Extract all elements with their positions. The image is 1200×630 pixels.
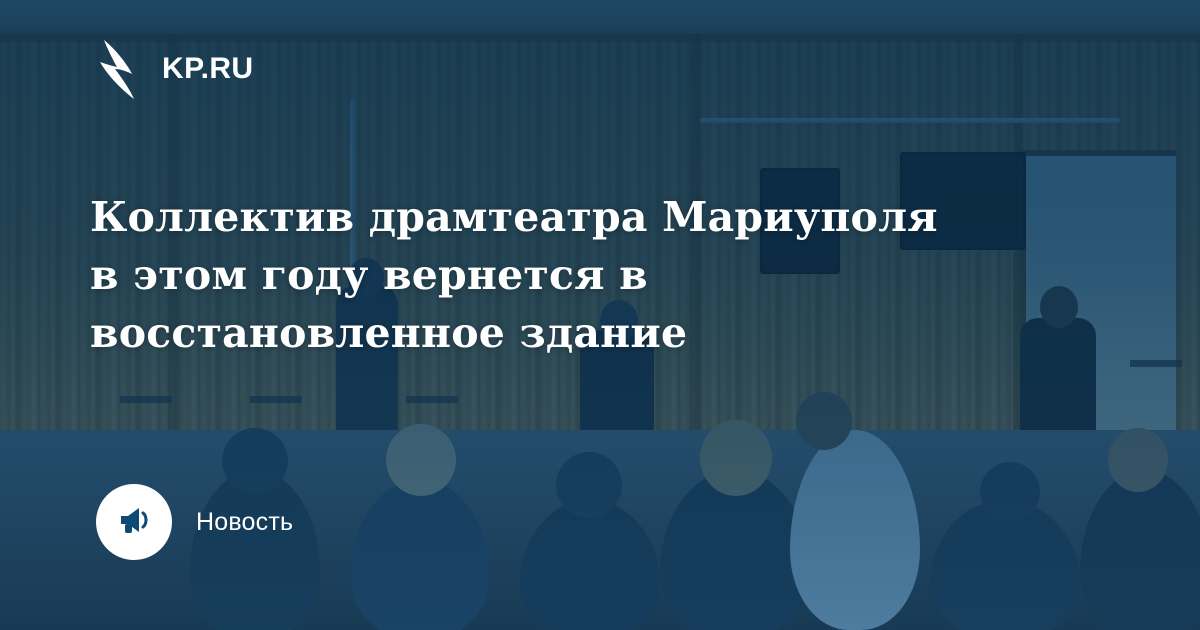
badge-label: Новость (196, 508, 293, 537)
swallow-bird-icon (96, 38, 148, 100)
megaphone-icon (113, 499, 155, 546)
status-badge[interactable]: Новость (96, 484, 293, 560)
brand-name: KP.RU (162, 52, 253, 86)
page-title: Коллектив драмтеатра Мариуполя в этом го… (90, 188, 970, 363)
share-card: KP.RU Коллектив драмтеатра Мариуполя в э… (0, 0, 1200, 630)
brand-logo[interactable]: KP.RU (96, 38, 253, 100)
badge-icon-circle (96, 484, 172, 560)
